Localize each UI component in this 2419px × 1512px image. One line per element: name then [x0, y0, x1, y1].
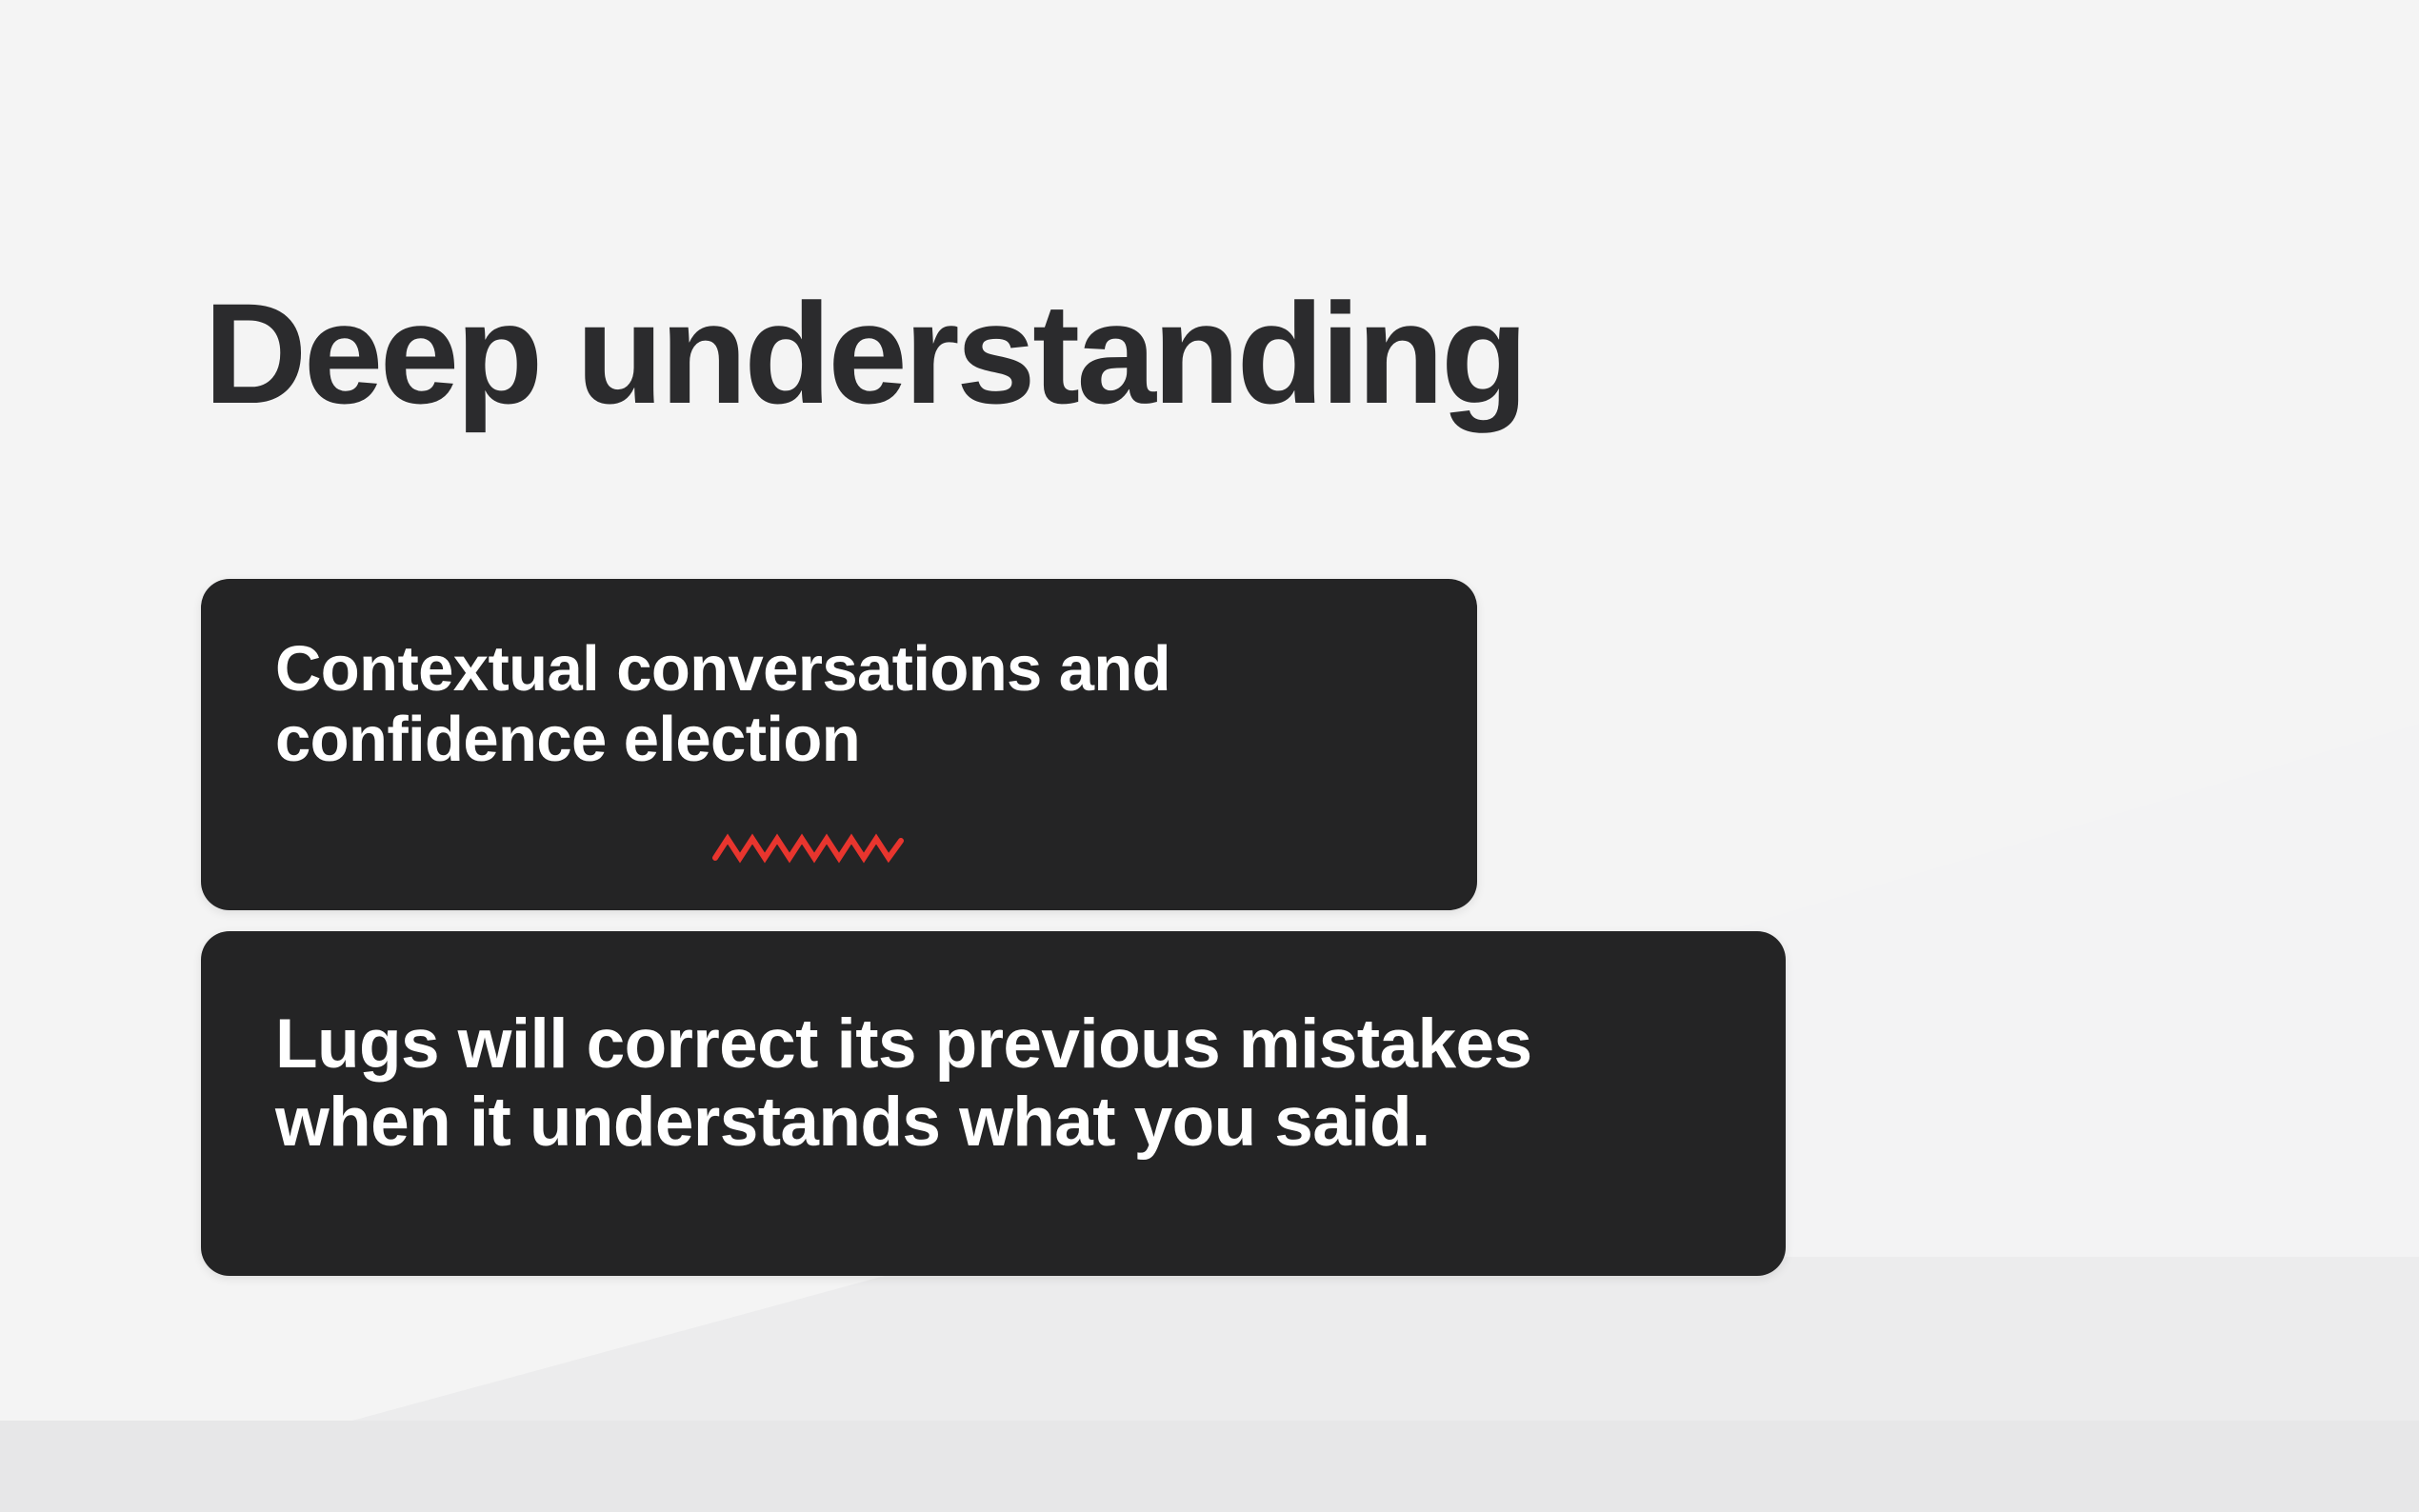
message-card-correction: Lugs will correct its previous mistakes … [201, 931, 1786, 1276]
card-two-text: Lugs will correct its previous mistakes … [275, 1005, 1531, 1162]
card-one-text: Contextual conversations and confidence … [275, 634, 1170, 774]
slide-canvas: Deep understanding ✕ [0, 0, 2419, 1512]
background-bottom-band [0, 1421, 2419, 1512]
page-title: Deep understanding [204, 278, 1525, 429]
message-card-contextual: Contextual conversations and confidence … [201, 579, 1477, 910]
